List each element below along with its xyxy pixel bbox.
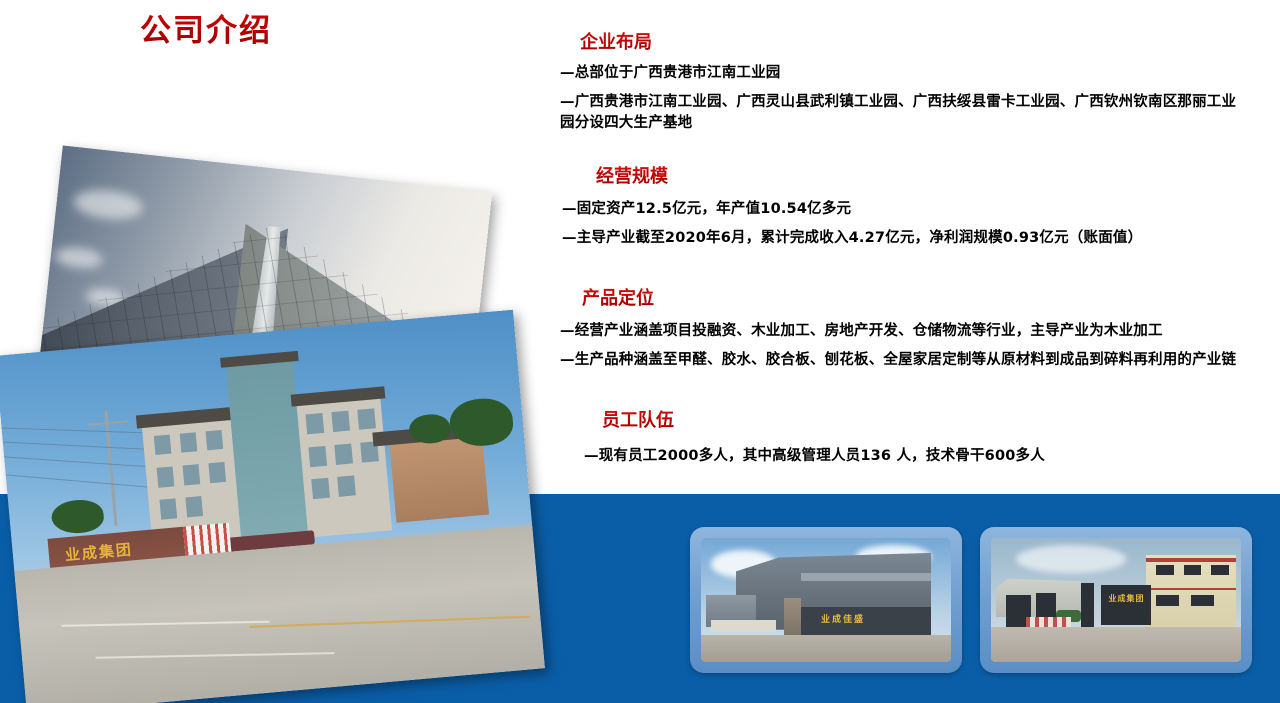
thumbnail-frame-branch-gate: 业成集团 [980,527,1252,673]
content-column: 企业布局 —总部位于广西贵港市江南工业园 —广西贵港市江南工业园、广西灵山县武利… [560,0,1260,494]
window [205,430,223,451]
barrier [711,620,776,632]
gate-sign-wall [1101,585,1151,625]
window [182,464,200,485]
window [156,466,174,487]
window [332,411,350,432]
bullet-item: —总部位于广西贵港市江南工业园 [560,63,1250,84]
roof-trim [1146,558,1236,562]
section-body: —现有员工2000多人，其中高级管理人员136 人，技术骨干600多人 [560,446,1250,467]
thumb-ground [991,627,1241,662]
section-body: —总部位于广西贵港市江南工业园 —广西贵港市江南工业园、广西灵山县武利镇工业园、… [560,63,1250,134]
slide-canvas: 公司介绍 [0,0,1280,703]
window [311,478,329,499]
section-heading: 经营规模 [596,166,1250,188]
photo-factory-gate: 业成集团 贵港市业成木业有限公司 [0,310,545,703]
window [306,413,324,434]
bullet-item: —固定资产12.5亿元，年产值10.54亿多元 [562,199,1250,220]
bullet-item: —现有员工2000多人，其中高级管理人员136 人，技术骨干600多人 [584,446,1250,467]
section-product-positioning: 产品定位 —经营产业涵盖项目投融资、木业加工、房地产开发、仓储物流等行业，主导产… [560,288,1250,371]
cloud-icon [1016,545,1126,572]
thumbnail-image: 业成佳盛 [701,538,951,662]
window [337,476,355,497]
window [179,432,197,453]
window [1184,565,1202,575]
window [1156,565,1174,575]
window [1156,595,1179,606]
floor-trim [1146,588,1236,590]
window [357,409,375,430]
window [1211,565,1229,575]
section-heading: 企业布局 [580,32,1250,54]
thumb-sign-text: 业成佳盛 [821,612,865,625]
window [159,499,177,520]
gate-artwork: 业成集团 贵港市业成木业有限公司 [0,310,545,703]
window [185,496,203,517]
gate-post [1081,583,1094,628]
window [208,462,226,483]
bullet-item: —经营产业涵盖项目投融资、木业加工、房地产开发、仓储物流等行业，主导产业为木业加… [560,321,1250,342]
section-heading: 产品定位 [582,288,1250,310]
window [309,446,327,467]
window [154,434,172,455]
bullet-item: —生产品种涵盖至甲醛、胶水、胶合板、刨花板、全屋家居定制等从原材料到成品到碎料再… [560,350,1250,371]
thumbnail-frame-factory-building: 业成佳盛 [690,527,962,673]
page-title: 公司介绍 [140,5,272,50]
bullet-item: —主导产业截至2020年6月，累计完成收入4.27亿元，净利润规模0.93亿元（… [562,228,1250,249]
section-business-scale: 经营规模 —固定资产12.5亿元，年产值10.54亿多元 —主导产业截至2020… [560,166,1250,249]
thumb-ground [701,635,951,662]
window [334,443,352,464]
shed-band [801,573,931,582]
section-enterprise-layout: 企业布局 —总部位于广西贵港市江南工业园 —广西贵港市江南工业园、广西灵山县武利… [560,32,1250,134]
barrier [1026,617,1071,627]
section-staff-team: 员工队伍 —现有员工2000多人，其中高级管理人员136 人，技术骨干600多人 [560,410,1250,467]
gate-post [784,598,802,638]
bullet-item: —广西贵港市江南工业园、广西灵山县武利镇工业园、广西扶绥县雷卡工业园、广西钦州钦… [560,92,1250,134]
section-body: —固定资产12.5亿元，年产值10.54亿多元 —主导产业截至2020年6月，累… [560,199,1250,249]
gatehouse [389,435,489,522]
section-body: —经营产业涵盖项目投融资、木业加工、房地产开发、仓储物流等行业，主导产业为木业加… [560,321,1250,371]
window [1191,595,1214,606]
thumb-sign-text: 业成集团 [1109,593,1145,604]
thumbnail-image: 业成集团 [991,538,1241,662]
section-heading: 员工队伍 [602,410,1250,432]
